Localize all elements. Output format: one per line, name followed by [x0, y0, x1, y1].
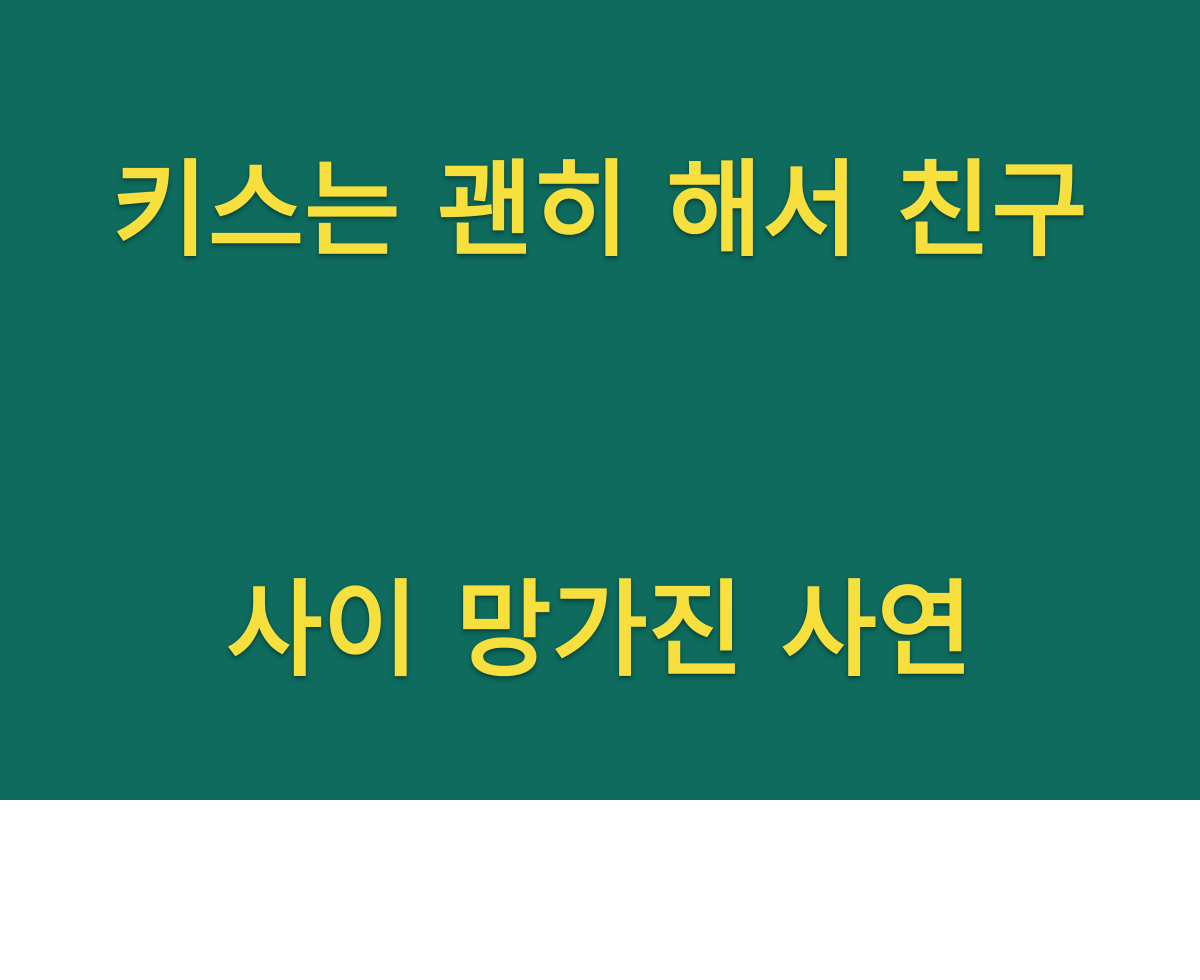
headline-line-1: 키스는 괜히 해서 친구 — [100, 140, 1100, 280]
text-banner: 키스는 괜히 해서 친구 사이 망가진 사연 — [0, 0, 1200, 800]
headline-line-2: 사이 망가진 사연 — [100, 560, 1100, 700]
headline-text-block: 키스는 괜히 해서 친구 사이 망가진 사연 — [100, 0, 1100, 980]
